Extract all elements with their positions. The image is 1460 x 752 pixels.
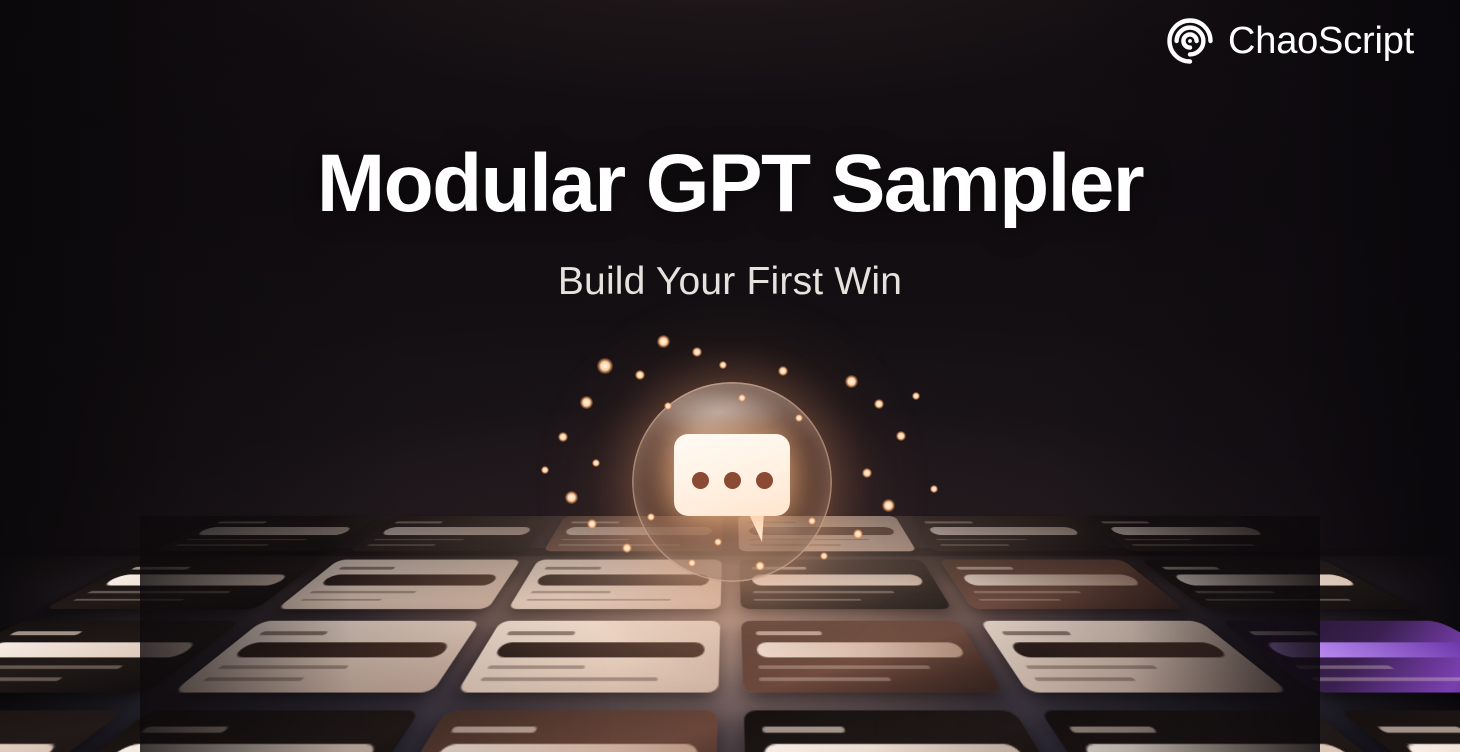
grid-card[interactable] — [743, 710, 1085, 752]
card-line — [185, 539, 307, 541]
card-tag — [1375, 726, 1460, 732]
grid-card[interactable] — [348, 516, 550, 551]
card-tag — [130, 567, 191, 570]
card-pill — [430, 744, 698, 752]
card-pill — [0, 642, 198, 658]
card-line — [299, 599, 383, 601]
card-line — [0, 666, 123, 669]
card-line — [72, 599, 184, 601]
card-line — [366, 544, 436, 546]
page-subtitle: Build Your First Win — [0, 262, 1460, 301]
card-line — [373, 539, 464, 541]
card-pill — [101, 575, 288, 586]
card-pill — [1262, 642, 1460, 658]
dot-2 — [724, 472, 741, 489]
card-pill — [1172, 575, 1359, 586]
dot-3 — [756, 472, 773, 489]
page-title: Modular GPT Sampler — [0, 143, 1460, 225]
card-tag — [1161, 567, 1221, 570]
card-line — [936, 539, 1027, 541]
card-line — [1193, 591, 1276, 593]
card-line — [217, 666, 349, 669]
grid-card[interactable] — [910, 516, 1112, 551]
card-line — [758, 677, 891, 680]
card-line — [1131, 544, 1255, 546]
card-line — [0, 677, 63, 680]
grid-card[interactable] — [1083, 516, 1308, 551]
card-pill — [0, 744, 61, 752]
typing-dots — [674, 472, 790, 489]
card-line — [87, 591, 232, 593]
card-line — [1034, 677, 1136, 680]
card-tag — [216, 521, 268, 523]
card-line — [1204, 599, 1352, 601]
spiral-icon — [1166, 17, 1214, 65]
card-line — [1025, 666, 1157, 669]
card-line — [973, 591, 1081, 593]
card-pill — [380, 527, 533, 535]
grid-card[interactable] — [276, 560, 520, 609]
card-pill — [1009, 642, 1230, 658]
card-line — [480, 677, 658, 680]
card-tag — [1100, 521, 1151, 523]
card-line — [487, 666, 585, 669]
chat-bubble-tail-icon — [748, 512, 764, 542]
card-tag — [507, 631, 576, 635]
card-line — [174, 544, 268, 546]
grid-card[interactable] — [153, 516, 378, 551]
card-line — [978, 599, 1061, 601]
card-line — [1294, 666, 1395, 669]
card-line — [202, 677, 305, 680]
card-pill — [230, 642, 451, 658]
card-pill — [1399, 744, 1460, 752]
card-tag — [761, 726, 846, 732]
card-line — [1123, 539, 1193, 541]
glass-sphere — [632, 382, 832, 582]
card-line — [1309, 677, 1460, 680]
card-line — [309, 591, 417, 593]
card-tag — [1247, 631, 1320, 635]
brand-logo[interactable]: ChaoScript — [1166, 17, 1414, 65]
dot-1 — [692, 472, 709, 489]
card-pill — [762, 744, 1030, 752]
card-tag — [9, 631, 83, 635]
card-line — [940, 544, 1010, 546]
card-pill — [961, 575, 1141, 586]
card-pill — [195, 527, 353, 535]
card-tag — [1001, 631, 1071, 635]
card-pill — [318, 575, 498, 586]
card-tag — [1068, 726, 1157, 732]
card-tag — [337, 567, 396, 570]
card-pill — [1081, 744, 1365, 752]
grid-card[interactable] — [375, 710, 717, 752]
card-tag — [258, 631, 330, 635]
grid-card[interactable] — [939, 560, 1183, 609]
card-tag — [450, 726, 537, 732]
card-tag — [139, 726, 230, 732]
card-pill — [928, 527, 1081, 535]
card-tag — [924, 521, 974, 523]
card-tag — [393, 521, 443, 523]
hero-banner: Modular GPT Sampler Build Your First Win… — [0, 0, 1460, 752]
card-pill — [95, 744, 379, 752]
card-tag — [956, 567, 1014, 570]
brand-name: ChaoScript — [1228, 22, 1414, 60]
card-pill — [1107, 527, 1265, 535]
card-line — [757, 666, 930, 669]
